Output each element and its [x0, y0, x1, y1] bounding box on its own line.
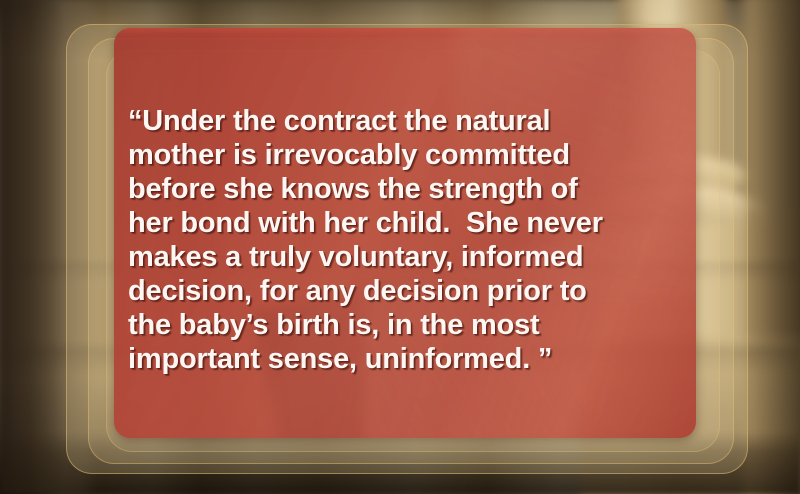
- left-shadow-band: [0, 0, 96, 494]
- quote-text: “Under the contract the natural mother i…: [128, 104, 688, 376]
- quote-panel: “Under the contract the natural mother i…: [114, 28, 696, 438]
- quote-slide: “Under the contract the natural mother i…: [0, 0, 800, 494]
